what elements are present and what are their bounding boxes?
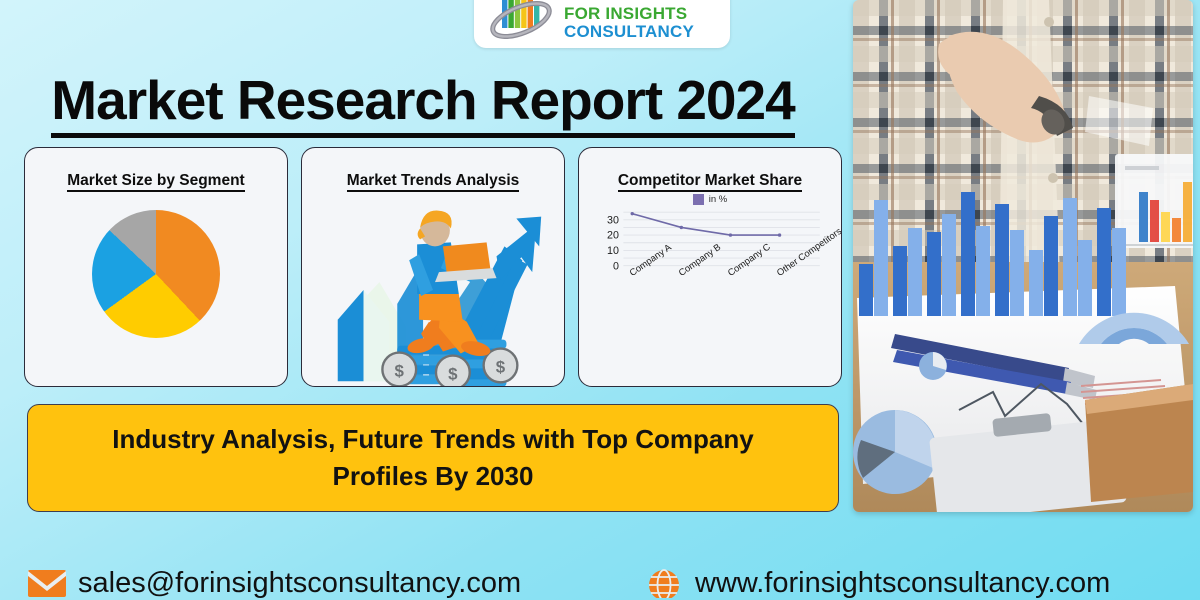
website-text: www.forinsightsconsultancy.com (695, 567, 1110, 600)
card-title-text: Competitor Market Share (618, 172, 802, 192)
svg-text:$: $ (448, 364, 458, 383)
brand-logo[interactable]: FOR INSIGHTS CONSULTANCY (474, 0, 730, 48)
growth-illustration-icon: $ $ $ (302, 194, 564, 387)
card-title: Market Size by Segment (25, 172, 287, 190)
svg-text:Company A: Company A (628, 242, 674, 278)
svg-text:$: $ (395, 361, 405, 380)
svg-text:20: 20 (607, 230, 619, 242)
contact-email[interactable]: sales@forinsightsconsultancy.com (28, 567, 521, 600)
legend-color-swatch (693, 194, 704, 205)
card-title: Market Trends Analysis (302, 172, 564, 190)
banner-line-2: Profiles By 2030 (333, 461, 534, 492)
contact-website[interactable]: www.forinsightsconsultancy.com (645, 567, 1110, 600)
chart-legend: in % (579, 194, 841, 205)
page-title-text: Market Research Report 2024 (51, 69, 794, 138)
pie-chart-wrap (25, 210, 287, 338)
pie-chart (92, 210, 220, 338)
card-market-trends-analysis[interactable]: Market Trends Analysis (301, 147, 565, 387)
svg-text:Other Competitors: Other Competitors (775, 226, 841, 278)
page-title: Market Research Report 2024 (0, 68, 846, 132)
card-competitor-market-share[interactable]: Competitor Market Share in % 0102030Comp… (578, 147, 842, 387)
brand-logo-text: FOR INSIGHTS CONSULTANCY (564, 5, 694, 42)
bar-chart-orbit-logo-icon (484, 0, 558, 42)
svg-text:Company B: Company B (677, 242, 723, 278)
legend-label: in % (709, 194, 727, 205)
card-market-size-by-segment[interactable]: Market Size by Segment (24, 147, 288, 387)
logo-line-1: FOR INSIGHTS (564, 5, 694, 22)
svg-text:$: $ (496, 357, 506, 376)
business-analyst-desk-photo (853, 0, 1193, 512)
card-title-text: Market Trends Analysis (347, 172, 520, 192)
svg-text:10: 10 (607, 245, 619, 257)
banner-line-1: Industry Analysis, Future Trends with To… (112, 424, 753, 455)
svg-text:0: 0 (613, 260, 619, 272)
subtitle-banner: Industry Analysis, Future Trends with To… (27, 404, 839, 512)
email-text: sales@forinsightsconsultancy.com (78, 567, 521, 600)
envelope-icon (28, 568, 66, 598)
competitor-line-chart: in % 0102030Company ACompany BCompany CO… (579, 192, 841, 387)
globe-icon (645, 568, 683, 598)
svg-text:30: 30 (607, 214, 619, 226)
logo-line-2: CONSULTANCY (564, 23, 694, 40)
footer-contact-bar: sales@forinsightsconsultancy.com www.for… (0, 566, 1200, 600)
svg-text:Company C: Company C (726, 241, 772, 278)
card-title-text: Market Size by Segment (67, 172, 244, 192)
card-title: Competitor Market Share (579, 172, 841, 190)
feature-card-row: Market Size by Segment Market Trends Ana… (24, 147, 842, 387)
line-chart-svg: 0102030Company ACompany BCompany COther … (579, 205, 841, 355)
